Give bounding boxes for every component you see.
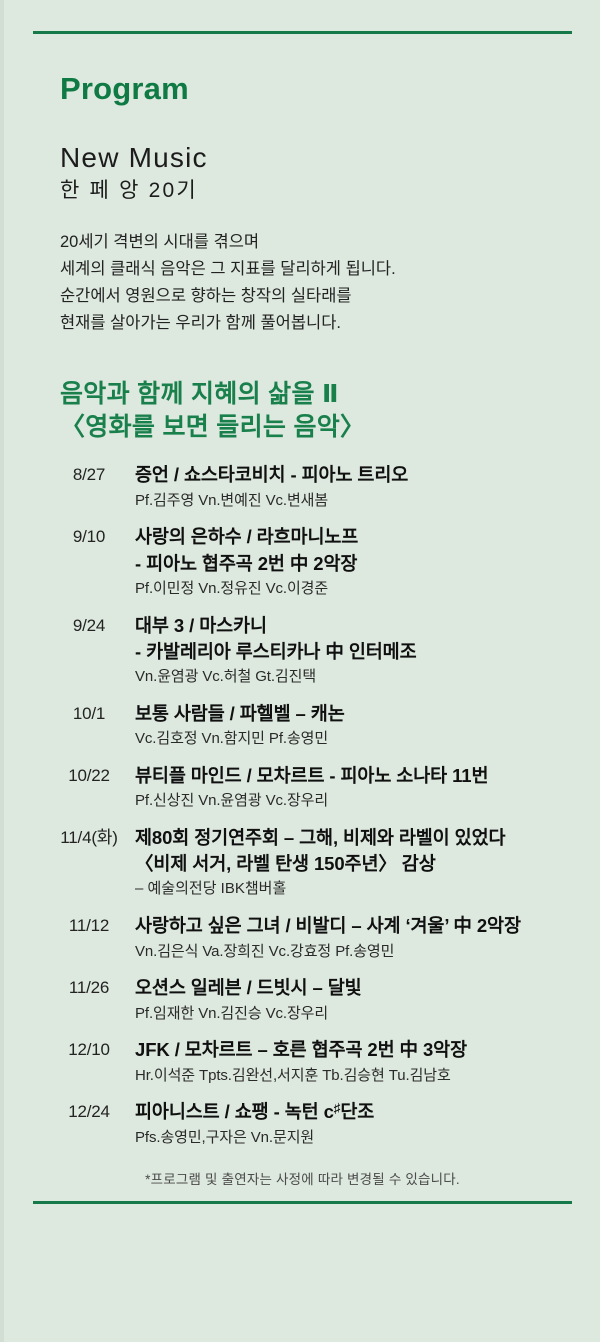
entry-title: 사랑의 은하수 / 라흐마니노프 — [135, 524, 572, 550]
entry-title: 보통 사람들 / 파헬벨 – 캐논 — [135, 701, 572, 727]
program-poster: Program New Music 한 페 앙 20기 20세기 격변의 시대를… — [0, 0, 600, 1342]
description-line: 순간에서 영원으로 향하는 창작의 실타래를 — [60, 283, 572, 310]
description-line: 현재를 살아가는 우리가 함께 풀어봅니다. — [60, 310, 572, 337]
entry-performers: Vc.김호정 Vn.함지민 Pf.송영민 — [135, 728, 572, 750]
entry-performers: Vn.윤염광 Vc.허철 Gt.김진택 — [135, 666, 572, 688]
program-entry: 10/22 뷰티플 마인드 / 모차르트 - 피아노 소나타 11번 Pf.신상… — [33, 763, 572, 812]
description-line: 세계의 클래식 음악은 그 지표를 달리하게 됩니다. — [60, 256, 572, 283]
entry-performers: Pf.신상진 Vn.윤염광 Vc.장우리 — [135, 790, 572, 812]
bottom-divider-rule — [33, 1201, 572, 1204]
entry-title-second-line: - 카발레리아 루스티카나 中 인터메조 — [135, 639, 572, 665]
entry-date: 12/10 — [43, 1037, 135, 1063]
entry-title: 뷰티플 마인드 / 모차르트 - 피아노 소나타 11번 — [135, 763, 572, 789]
entry-date: 12/24 — [43, 1099, 135, 1125]
program-entry: 10/1 보통 사람들 / 파헬벨 – 캐논 Vc.김호정 Vn.함지민 Pf.… — [33, 701, 572, 750]
entry-body: JFK / 모차르트 – 호른 협주곡 2번 中 3악장 Hr.이석준 Tpts… — [135, 1037, 572, 1086]
program-entry-anniversary: 11/4(화) 제80회 정기연주회 – 그해, 비제와 라벨이 있었다 〈비제… — [33, 825, 572, 900]
entry-title-prefix: 피아니스트 / 쇼팽 - 녹턴 c — [135, 1101, 334, 1122]
section-heading-line1: 음악과 함께 지혜의 삶을 Ⅱ — [60, 378, 572, 411]
program-entry: 9/10 사랑의 은하수 / 라흐마니노프 - 피아노 협주곡 2번 中 2악장… — [33, 524, 572, 599]
entry-performers: Pf.김주영 Vn.변예진 Vc.변새봄 — [135, 490, 572, 512]
entry-body: 증언 / 쇼스타코비치 - 피아노 트리오 Pf.김주영 Vn.변예진 Vc.변… — [135, 462, 572, 511]
program-entry: 12/10 JFK / 모차르트 – 호른 협주곡 2번 中 3악장 Hr.이석… — [33, 1037, 572, 1086]
entry-date: 11/26 — [43, 975, 135, 1001]
section-heading: 음악과 함께 지혜의 삶을 Ⅱ 〈영화를 보면 들리는 음악〉 — [60, 378, 572, 444]
program-entry: 11/26 오션스 일레븐 / 드빗시 – 달빛 Pf.임재한 Vn.김진승 V… — [33, 975, 572, 1024]
series-title-kr: 한 페 앙 20기 — [60, 178, 572, 203]
program-entry: 12/24 피아니스트 / 쇼팽 - 녹턴 c♯단조 Pfs.송영민,구자은 V… — [33, 1099, 572, 1148]
program-entry: 8/27 증언 / 쇼스타코비치 - 피아노 트리오 Pf.김주영 Vn.변예진… — [33, 462, 572, 511]
entry-body: 제80회 정기연주회 – 그해, 비제와 라벨이 있었다 〈비제 서거, 라벨 … — [135, 825, 572, 900]
entry-title: JFK / 모차르트 – 호른 협주곡 2번 中 3악장 — [135, 1037, 572, 1063]
entry-date: 10/22 — [43, 763, 135, 789]
entry-date: 8/27 — [43, 462, 135, 488]
entry-body: 사랑의 은하수 / 라흐마니노프 - 피아노 협주곡 2번 中 2악장 Pf.이… — [135, 524, 572, 599]
content-column: Program New Music 한 페 앙 20기 20세기 격변의 시대를… — [33, 0, 572, 1204]
footnote: *프로그램 및 출연자는 사정에 따라 변경될 수 있습니다. — [33, 1168, 572, 1188]
description-line: 20세기 격변의 시대를 겪으며 — [60, 229, 572, 256]
entry-performers: Hr.이석준 Tpts.김완선,서지훈 Tb.김승현 Tu.김남호 — [135, 1065, 572, 1087]
series-title-en: New Music — [60, 142, 572, 174]
entry-venue: – 예술의전당 IBK챔버홀 — [135, 878, 572, 900]
entry-date: 9/24 — [43, 613, 135, 639]
program-entry: 11/12 사랑하고 싶은 그녀 / 비발디 – 사계 ‘겨울’ 中 2악장 V… — [33, 913, 572, 962]
entry-body: 오션스 일레븐 / 드빗시 – 달빛 Pf.임재한 Vn.김진승 Vc.장우리 — [135, 975, 572, 1024]
entry-performers: Vn.김은식 Va.장희진 Vc.강효정 Pf.송영민 — [135, 941, 572, 963]
entry-performers: Pf.임재한 Vn.김진승 Vc.장우리 — [135, 1003, 572, 1025]
page-title: Program — [60, 72, 572, 106]
program-entry: 9/24 대부 3 / 마스카니 - 카발레리아 루스티카나 中 인터메조 Vn… — [33, 613, 572, 688]
entry-title: 사랑하고 싶은 그녀 / 비발디 – 사계 ‘겨울’ 中 2악장 — [135, 913, 572, 939]
entry-body: 보통 사람들 / 파헬벨 – 캐논 Vc.김호정 Vn.함지민 Pf.송영민 — [135, 701, 572, 750]
entry-body: 사랑하고 싶은 그녀 / 비발디 – 사계 ‘겨울’ 中 2악장 Vn.김은식 … — [135, 913, 572, 962]
entry-title-second-line: 〈비제 서거, 라벨 탄생 150주년〉 감상 — [135, 851, 572, 877]
entry-date: 11/12 — [43, 913, 135, 939]
entry-body: 대부 3 / 마스카니 - 카발레리아 루스티카나 中 인터메조 Vn.윤염광 … — [135, 613, 572, 688]
entry-date: 9/10 — [43, 524, 135, 550]
section-heading-line2: 〈영화를 보면 들리는 음악〉 — [60, 411, 572, 444]
entry-performers: Pfs.송영민,구자은 Vn.문지원 — [135, 1127, 572, 1149]
entry-title: 제80회 정기연주회 – 그해, 비제와 라벨이 있었다 — [135, 825, 572, 851]
bottom-divider-wrap — [33, 1201, 572, 1204]
entry-title: 대부 3 / 마스카니 — [135, 613, 572, 639]
left-edge-strip — [0, 0, 4, 1342]
entry-body: 피아니스트 / 쇼팽 - 녹턴 c♯단조 Pfs.송영민,구자은 Vn.문지원 — [135, 1099, 572, 1148]
entry-title: 피아니스트 / 쇼팽 - 녹턴 c♯단조 — [135, 1099, 572, 1125]
entry-performers: Pf.이민정 Vn.정유진 Vc.이경준 — [135, 578, 572, 600]
entry-title-second-line: - 피아노 협주곡 2번 中 2악장 — [135, 551, 572, 577]
entry-title: 오션스 일레븐 / 드빗시 – 달빛 — [135, 975, 572, 1001]
entry-date: 10/1 — [43, 701, 135, 727]
entry-title: 증언 / 쇼스타코비치 - 피아노 트리오 — [135, 462, 572, 488]
description-block: 20세기 격변의 시대를 겪으며 세계의 클래식 음악은 그 지표를 달리하게 … — [60, 229, 572, 336]
entry-body: 뷰티플 마인드 / 모차르트 - 피아노 소나타 11번 Pf.신상진 Vn.윤… — [135, 763, 572, 812]
top-divider-rule — [33, 31, 572, 34]
program-list: 8/27 증언 / 쇼스타코비치 - 피아노 트리오 Pf.김주영 Vn.변예진… — [33, 462, 572, 1148]
entry-title-suffix: 단조 — [340, 1101, 374, 1122]
entry-date: 11/4(화) — [43, 825, 135, 851]
